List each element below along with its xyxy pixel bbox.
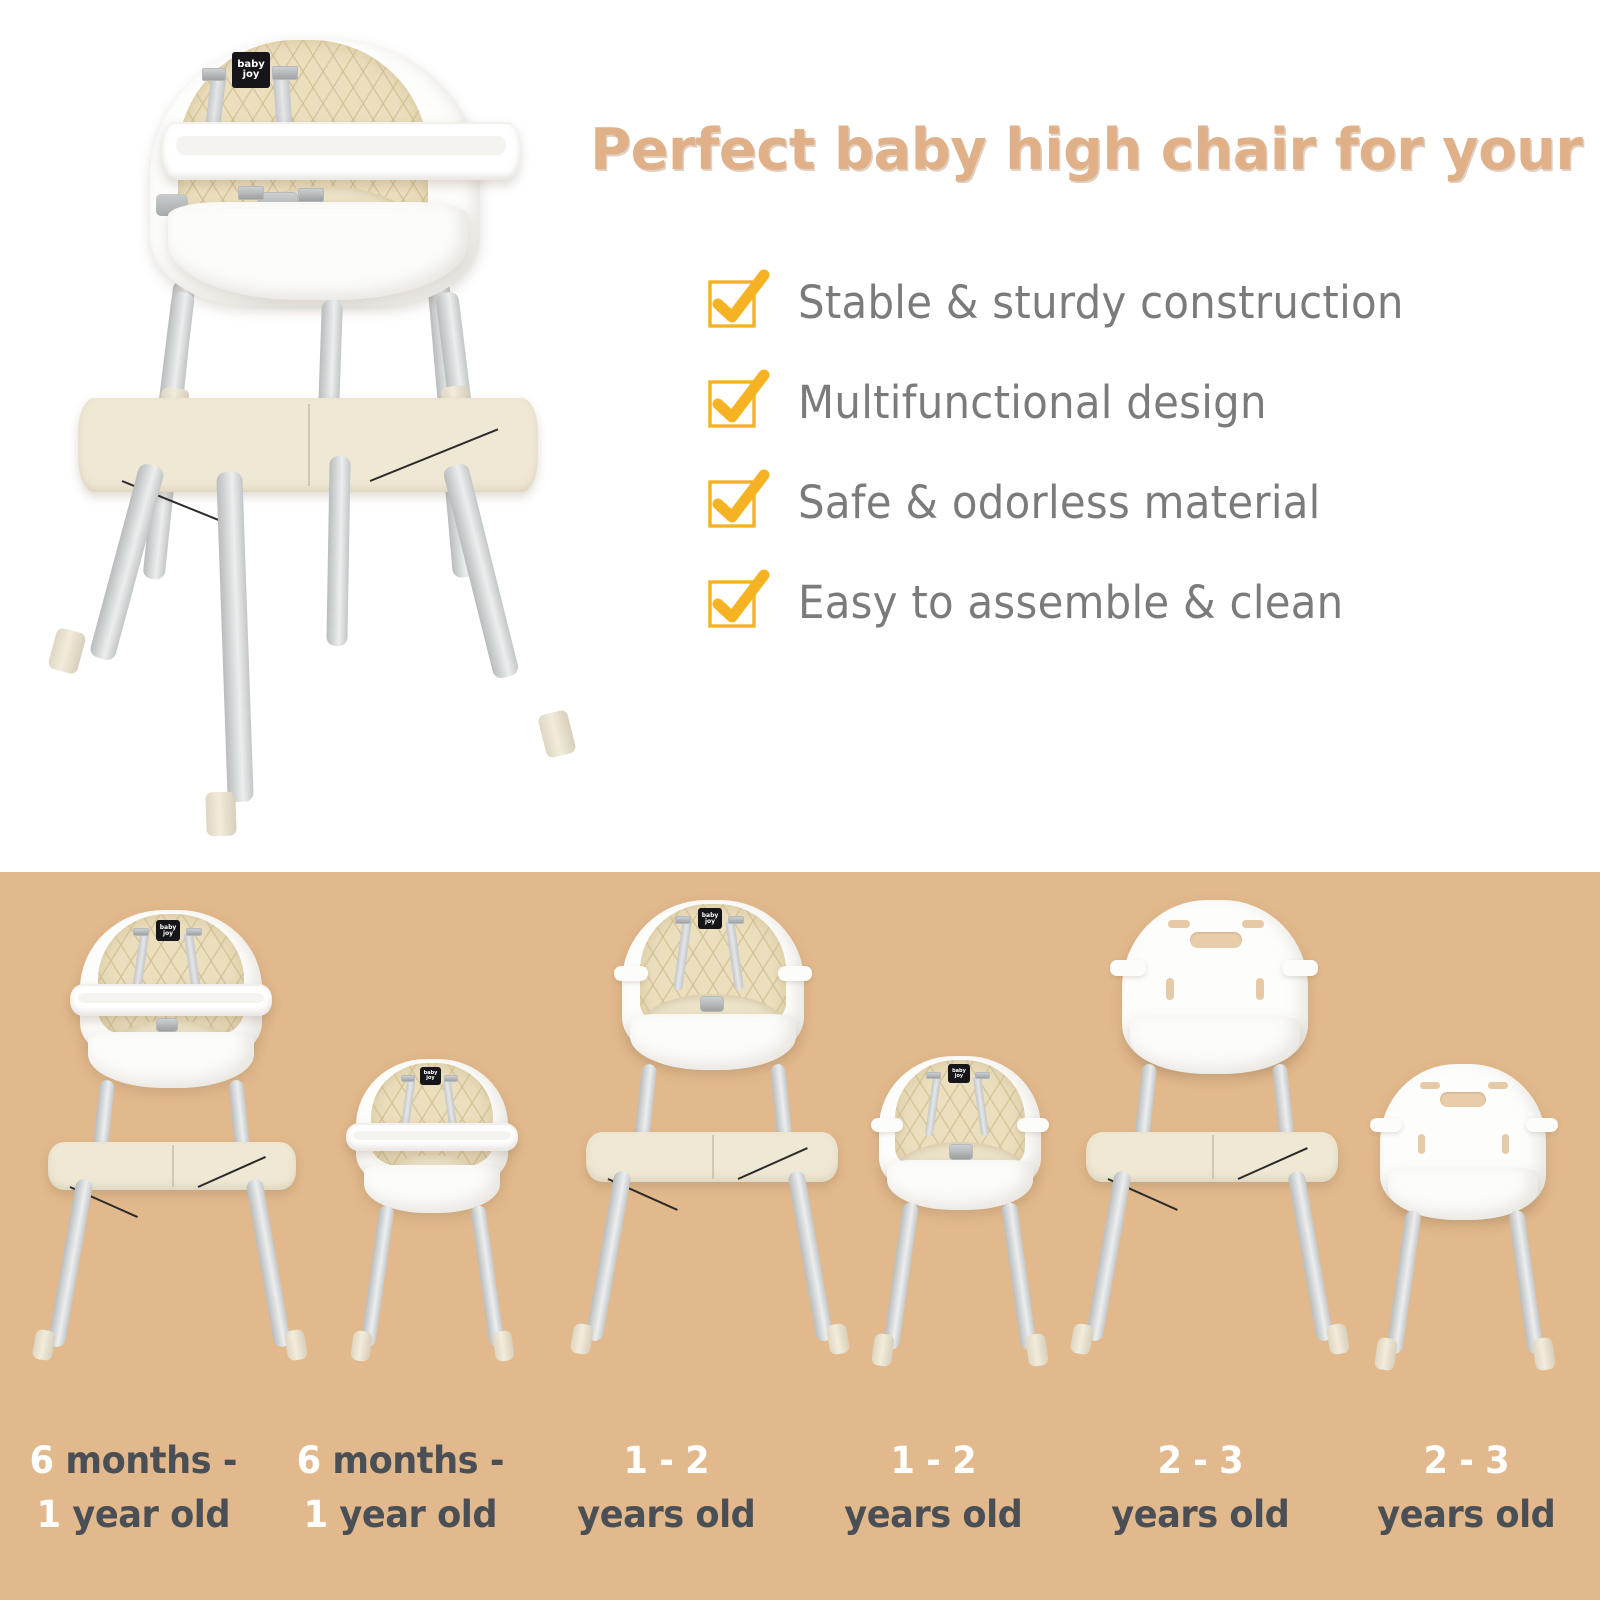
harness-adjuster-right	[444, 1075, 458, 1082]
hero-panel: baby joy	[0, 0, 1600, 872]
tray-lip	[353, 1131, 511, 1140]
feature-list: Stable & sturdy construction Multifuncti…	[706, 252, 1586, 652]
caption-config-4: 2 - 3 years old	[1073, 1430, 1326, 1600]
foot-cap-right	[492, 1330, 515, 1362]
leg-left	[1386, 1210, 1422, 1355]
caption-config-1: 6 months - 1 year old	[273, 1430, 526, 1600]
caption-config-0: 6 months - 1 year old	[7, 1430, 260, 1600]
caption-number: 6	[296, 1439, 320, 1482]
harness-adjuster-right	[975, 1072, 990, 1079]
checkbox-checked-icon	[706, 371, 768, 433]
chair-config-3: baby joy	[845, 1044, 1075, 1409]
tray-lip	[176, 136, 505, 155]
lower-leg-left	[1085, 1170, 1132, 1342]
caption-line-2: years old	[807, 1488, 1060, 1542]
caption-number: 2 - 3	[1424, 1439, 1510, 1482]
caption-number: 6	[30, 1439, 54, 1482]
foot-cap-right	[1326, 1322, 1351, 1355]
hero-feeding-tray	[162, 122, 520, 180]
armrest-left	[1110, 960, 1146, 976]
brand-logo-tag: baby joy	[948, 1064, 970, 1083]
caption-text: months -	[320, 1439, 503, 1482]
feature-label-1: Multifunctional design	[798, 376, 1267, 429]
caption-line-1: 1 - 2	[807, 1434, 1060, 1488]
leg-left	[883, 1202, 919, 1351]
caption-number-2: 1	[37, 1493, 61, 1536]
configurations-panel: baby joy	[0, 872, 1600, 1600]
checkbox-checked-icon	[706, 571, 768, 633]
feature-label-2: Safe & odorless material	[798, 476, 1321, 529]
strap-slot-top-right	[1488, 1082, 1508, 1089]
hero-product-image: baby joy	[10, 10, 610, 860]
tray-lip	[78, 993, 264, 1003]
waist-buckle-right	[298, 188, 324, 202]
strap-slot-mid-left	[1418, 1134, 1425, 1154]
foot-cap-left	[32, 1328, 57, 1361]
chair-config-2: baby joy	[580, 882, 840, 1410]
feeding-tray	[346, 1123, 518, 1151]
leg-left	[360, 1205, 395, 1348]
strap-slot-mid-right	[1256, 978, 1264, 1000]
caption-config-3: 1 - 2 years old	[807, 1430, 1060, 1600]
page-title: Perfect baby high chair for your kids	[590, 112, 1585, 188]
strap-slot-mid-right	[1502, 1134, 1509, 1154]
caption-line-1: 2 - 3	[1340, 1434, 1593, 1488]
caption-number: 1 - 2	[624, 1439, 710, 1482]
crotch-buckle	[156, 1018, 178, 1032]
brand-logo-line2: joy	[243, 70, 260, 80]
waist-buckle-left	[238, 186, 264, 200]
foot-cap-left	[350, 1330, 373, 1362]
feature-label-0: Stable & sturdy construction	[798, 276, 1404, 329]
caption-number: 1 - 2	[891, 1439, 977, 1482]
strap-slot-top-left	[1420, 1082, 1440, 1089]
feeding-tray	[70, 984, 272, 1016]
shell-front-rim	[630, 1014, 796, 1070]
foot-cap-right	[1025, 1333, 1049, 1367]
brand-logo-tag: baby joy	[156, 920, 180, 941]
lower-leg-left	[47, 1178, 93, 1348]
caption-line-1: 6 months -	[273, 1434, 526, 1488]
caption-line-1: 1 - 2	[540, 1434, 793, 1488]
chair-config-0: baby joy	[40, 890, 300, 1410]
brand-logo-tag: baby joy	[420, 1067, 441, 1085]
chair-config-5	[1348, 1052, 1580, 1412]
harness-adjuster-left	[401, 1075, 415, 1082]
harness-adjuster-right	[272, 66, 298, 80]
hero-foot-cap-front-right	[537, 709, 577, 759]
harness-adjuster-left	[675, 916, 691, 924]
chair-config-1: baby joy	[322, 1047, 544, 1407]
chair-configuration-row: baby joy	[0, 872, 1600, 1432]
hero-upper-leg-center	[318, 300, 343, 413]
leg-right	[1001, 1202, 1037, 1351]
feature-item-1: Multifunctional design	[706, 352, 1586, 452]
foot-cap-left	[1374, 1337, 1398, 1371]
caption-line-2: years old	[540, 1488, 793, 1542]
foot-cap-left	[871, 1333, 895, 1367]
brand-logo-tag: baby joy	[698, 908, 722, 929]
brand-logo-tag: baby joy	[232, 52, 270, 88]
caption-line-2: years old	[1073, 1488, 1326, 1542]
foot-cap-right	[284, 1328, 309, 1361]
harness-adjuster-left	[926, 1072, 941, 1079]
hero-lower-leg-center	[216, 472, 254, 803]
armrest-right	[778, 966, 812, 981]
brand-logo-line2: joy	[955, 1074, 963, 1079]
caption-text-2: year old	[327, 1493, 496, 1536]
strap-slot-top-left	[1168, 920, 1190, 928]
harness-adjuster-right	[186, 928, 202, 936]
hero-lower-leg-back	[326, 456, 350, 646]
checkbox-checked-icon	[706, 271, 768, 333]
armrest-right	[1017, 1118, 1049, 1132]
caption-row: 6 months - 1 year old 6 months - 1 year …	[0, 1430, 1600, 1600]
brand-logo-line2: joy	[426, 1076, 434, 1081]
caption-line-2: years old	[1340, 1488, 1593, 1542]
hero-shell-front-rim	[168, 202, 468, 300]
lower-leg-right	[1287, 1170, 1334, 1342]
caption-number: 2 - 3	[1157, 1439, 1243, 1482]
feature-item-2: Safe & odorless material	[706, 452, 1586, 552]
foot-cap-left	[1070, 1322, 1095, 1355]
lower-leg-right	[787, 1170, 834, 1342]
brand-logo-line2: joy	[163, 931, 173, 937]
harness-adjuster-right	[728, 916, 744, 924]
feature-item-0: Stable & sturdy construction	[706, 252, 1586, 352]
foot-cap-right	[1532, 1337, 1556, 1371]
caption-line-2: 1 year old	[7, 1488, 260, 1542]
caption-text-2: year old	[61, 1493, 230, 1536]
leg-right	[1508, 1210, 1544, 1355]
armrest-right	[1282, 960, 1318, 976]
foot-cap-left	[570, 1322, 595, 1355]
armrest-left	[614, 966, 648, 981]
crotch-buckle	[949, 1144, 973, 1160]
lower-leg-left	[585, 1170, 632, 1342]
crotch-buckle	[700, 996, 724, 1012]
hero-foot-cap-front-left	[47, 627, 87, 675]
feature-label-3: Easy to assemble & clean	[798, 576, 1343, 629]
caption-text: months -	[54, 1439, 237, 1482]
caption-config-2: 1 - 2 years old	[540, 1430, 793, 1600]
checkbox-checked-icon	[706, 471, 768, 533]
hero-foot-cap-center	[205, 791, 237, 836]
armrest-right	[1526, 1118, 1558, 1132]
strap-slot-top-right	[1242, 920, 1264, 928]
harness-adjuster-left	[133, 928, 149, 936]
caption-config-5: 2 - 3 years old	[1340, 1430, 1593, 1600]
armrest-left	[871, 1118, 903, 1132]
shell-front-rim	[88, 1032, 254, 1088]
armrest-left	[1370, 1118, 1402, 1132]
feature-item-3: Easy to assemble & clean	[706, 552, 1586, 652]
lower-leg-right	[245, 1178, 291, 1348]
caption-line-1: 2 - 3	[1073, 1434, 1326, 1488]
backrest-handle-slot	[1440, 1092, 1486, 1107]
brand-logo-line2: joy	[705, 919, 715, 925]
caption-number-2: 1	[303, 1493, 327, 1536]
strap-slot-mid-left	[1166, 978, 1174, 1000]
leg-right	[470, 1205, 505, 1348]
backrest-handle-slot	[1190, 932, 1242, 948]
harness-adjuster-left	[202, 68, 226, 81]
caption-line-1: 6 months -	[7, 1434, 260, 1488]
chair-config-4	[1080, 882, 1340, 1410]
caption-line-2: 1 year old	[273, 1488, 526, 1542]
